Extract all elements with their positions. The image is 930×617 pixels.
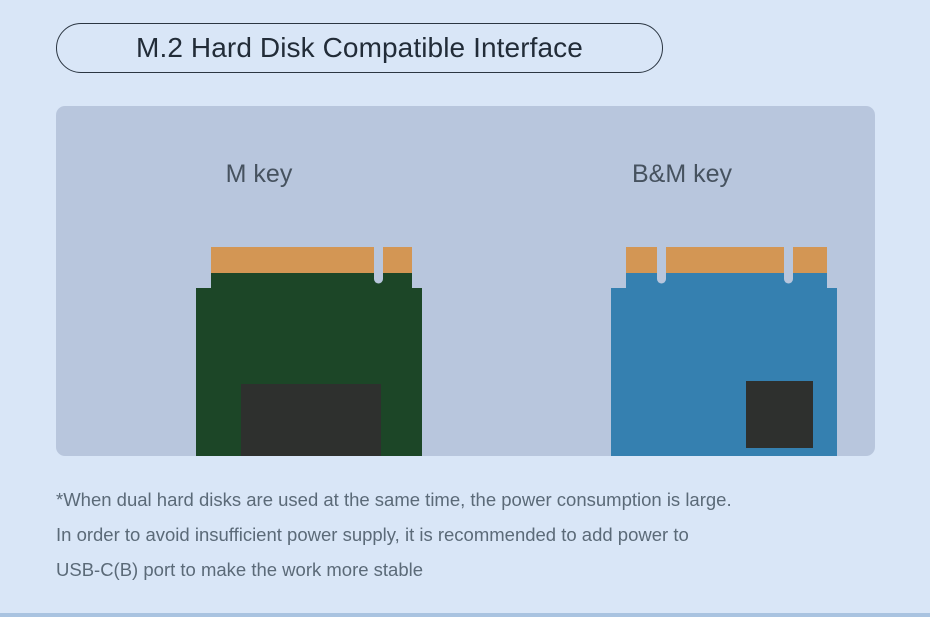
footnote-line-2: In order to avoid insufficient power sup… [56,517,896,552]
footnote: *When dual hard disks are used at the sa… [56,482,896,587]
m-key-drive-figure [140,247,450,456]
bm-key-connector-middle [666,247,784,273]
drive-label-m-key: M key [154,160,364,189]
bm-key-connector-left [626,247,657,273]
page-title: M.2 Hard Disk Compatible Interface [136,32,583,64]
m-key-connector-left [211,247,374,273]
diagram-panel: M key B&M key [56,106,875,456]
bm-key-notch-left [657,247,666,284]
footnote-line-3: USB-C(B) port to make the work more stab… [56,552,896,587]
page-title-pill: M.2 Hard Disk Compatible Interface [56,23,663,73]
bm-key-chip [746,381,813,448]
footnote-line-1: *When dual hard disks are used at the sa… [56,482,896,517]
bm-key-notch-right [784,247,793,284]
drive-label-b-and-m-key: B&M key [568,160,796,189]
bm-key-pcb-upper [626,273,827,288]
m-key-chip [241,384,381,456]
bottom-divider [0,613,930,617]
b-and-m-key-drive-figure [555,247,865,456]
bm-key-connector-right [793,247,827,273]
m-key-notch-right [374,247,383,284]
m-key-connector-right [383,247,412,273]
